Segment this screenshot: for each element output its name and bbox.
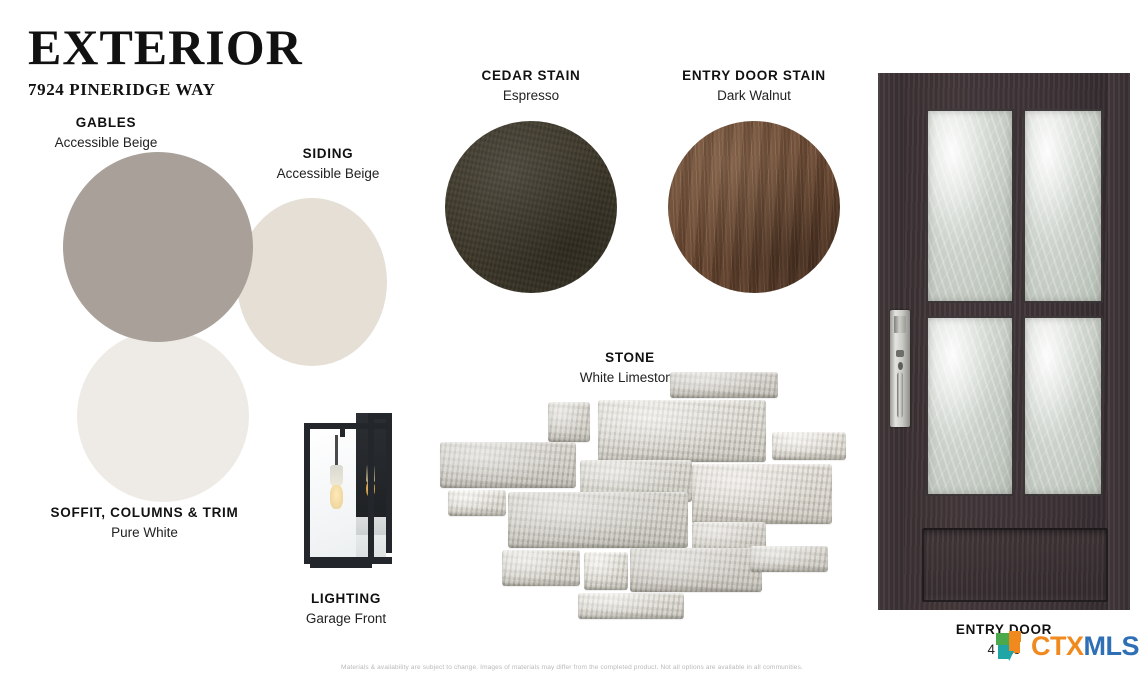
stone-block <box>502 550 580 586</box>
label-soffit: SOFFIT, COLUMNS & TRIM Pure White <box>22 505 267 540</box>
gables-label: GABLES <box>26 115 186 130</box>
stone-block <box>440 442 576 488</box>
stone-block <box>692 464 832 524</box>
soffit-value: Pure White <box>22 525 267 540</box>
entry-door-stain-value: Dark Walnut <box>650 88 858 103</box>
label-siding: SIDING Accessible Beige <box>253 146 403 181</box>
stone-block <box>598 400 766 462</box>
ctxmls-ctx-text: CTX <box>1031 631 1084 661</box>
entry-door-stain-label: ENTRY DOOR STAIN <box>650 68 858 83</box>
lantern-fixture-icon <box>294 405 398 575</box>
door-lite-bottom-left <box>926 316 1014 496</box>
stone-group: STONE White Limestone <box>420 350 870 640</box>
ctxmls-watermark: CTXMLS <box>996 631 1139 661</box>
disclaimer-text: Materials & availability are subject to … <box>0 664 1144 671</box>
gables-value: Accessible Beige <box>26 135 186 150</box>
ctxmls-logo-text: CTXMLS <box>1031 633 1139 660</box>
swatch-circle-soffit <box>77 330 249 502</box>
entry-door-image <box>878 73 1130 610</box>
siding-label: SIDING <box>253 146 403 161</box>
label-cedar-stain: CEDAR STAIN Espresso <box>432 68 630 103</box>
stone-block <box>548 402 590 442</box>
swatch-disc-entry-door-stain <box>668 121 840 293</box>
exterior-selection-board: EXTERIOR 7924 PINERIDGE WAY GABLES Acces… <box>0 0 1144 686</box>
door-lite-top-left <box>926 109 1014 303</box>
soffit-label: SOFFIT, COLUMNS & TRIM <box>22 505 267 520</box>
stone-wall-pattern <box>420 350 870 640</box>
swatch-circle-siding <box>237 198 387 366</box>
stone-block <box>448 490 506 516</box>
door-handle-escutcheon[interactable] <box>890 310 910 427</box>
stone-block <box>508 492 688 548</box>
label-lighting: LIGHTING Garage Front <box>276 591 416 626</box>
stone-block <box>772 432 846 460</box>
door-bottom-panel <box>922 528 1108 602</box>
label-gables: GABLES Accessible Beige <box>26 115 186 150</box>
swatch-circle-gables <box>63 152 253 342</box>
stone-block <box>630 548 762 592</box>
entry-door-group: ENTRY DOOR 4 Lite <box>878 73 1130 657</box>
stone-block <box>578 593 684 619</box>
stone-block <box>670 372 778 398</box>
door-lite-top-right <box>1023 109 1103 303</box>
lighting-group: LIGHTING Garage Front <box>276 405 416 626</box>
stone-block <box>750 546 828 572</box>
siding-value: Accessible Beige <box>253 166 403 181</box>
cedar-stain-group: CEDAR STAIN Espresso <box>432 68 630 293</box>
label-entry-door-stain: ENTRY DOOR STAIN Dark Walnut <box>650 68 858 103</box>
stone-block <box>584 552 628 590</box>
cedar-stain-value: Espresso <box>432 88 630 103</box>
entry-door-stain-group: ENTRY DOOR STAIN Dark Walnut <box>650 68 858 293</box>
cedar-stain-label: CEDAR STAIN <box>432 68 630 83</box>
ctxmls-mls-text: MLS <box>1084 631 1140 661</box>
swatch-disc-cedar-stain <box>445 121 617 293</box>
lighting-value: Garage Front <box>276 611 416 626</box>
door-lite-bottom-right <box>1023 316 1103 496</box>
texas-state-icon <box>996 631 1030 661</box>
lighting-label: LIGHTING <box>276 591 416 606</box>
